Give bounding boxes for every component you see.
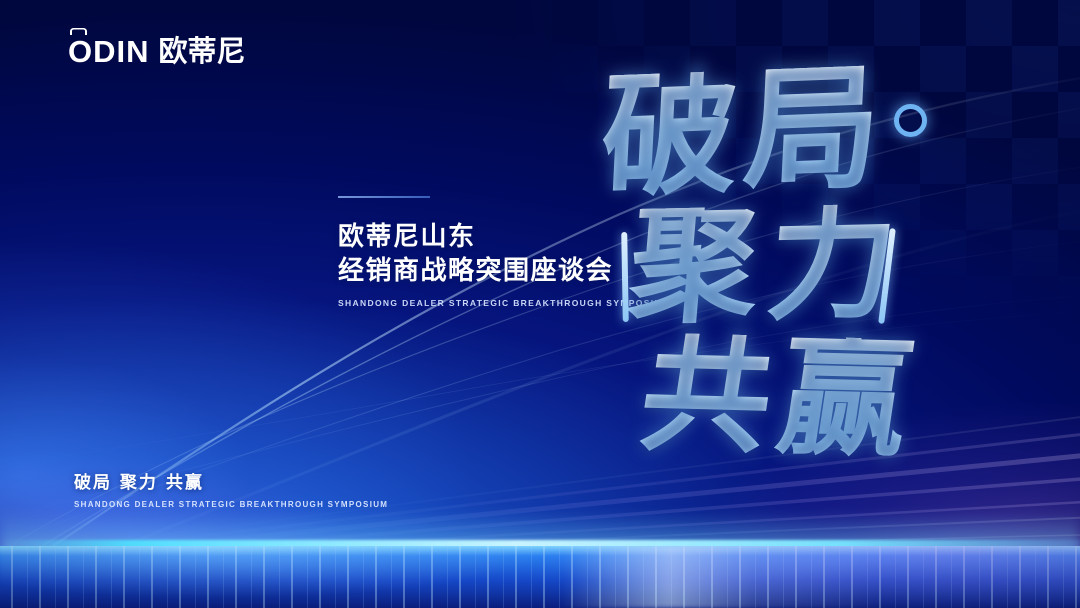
footer-slogan-block: 破局 聚力 共赢 SHANDONG DEALER STRATEGIC BREAK… [74,468,388,509]
brand-logo-latin: ODIN [68,36,150,67]
circle-accent-icon [894,104,927,137]
headline-row-3: 共赢 [634,332,927,459]
ground-light-field [0,546,1080,608]
footer-slogan-english: SHANDONG DEALER STRATEGIC BREAKTHROUGH S… [74,500,388,509]
ground-purple-glow [0,546,1080,608]
macron-accent-icon [70,28,87,35]
brand-logo-chinese: 欧蒂尼 [159,37,246,66]
brand-logo-latin-text: DIN [93,34,149,69]
divider-rule [338,196,430,198]
footer-slogan-chinese: 破局 聚力 共赢 [74,468,388,493]
headline-row-2: 聚力 [625,203,911,327]
event-backdrop-poster: ODIN 欧蒂尼 欧蒂尼山东 经销商战略突围座谈会 SHANDONG DEALE… [0,0,1080,608]
brand-logo[interactable]: ODIN 欧蒂尼 [68,36,246,67]
headline-row-1: 破局 [599,65,890,201]
